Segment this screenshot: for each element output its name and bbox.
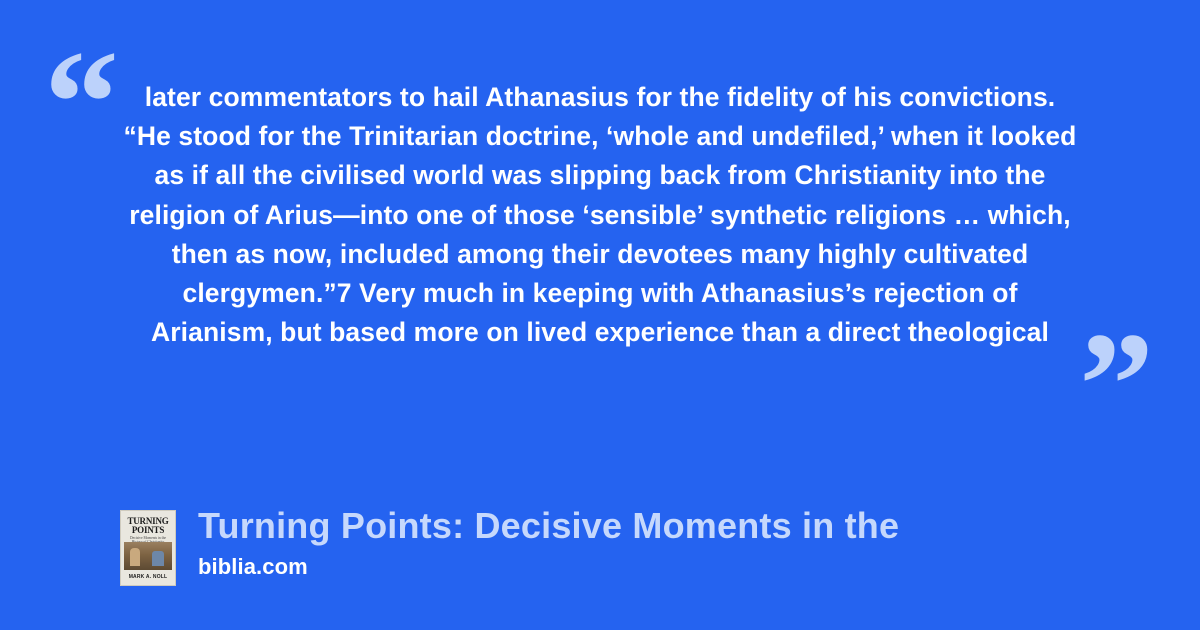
book-cover-thumbnail[interactable]: TURNING POINTS Decisive Moments in the H…: [120, 510, 176, 586]
quote-text: later commentators to hail Athanasius fo…: [120, 78, 1080, 353]
site-name[interactable]: biblia.com: [198, 554, 899, 580]
book-cover-author: MARK A. NOLL: [121, 574, 175, 580]
open-quote-icon: “: [44, 28, 119, 178]
book-cover-artwork: [124, 542, 172, 570]
book-cover-title: TURNING POINTS: [121, 517, 175, 535]
quote-card: “ later commentators to hail Athanasius …: [0, 0, 1200, 630]
close-quote-icon: ”: [1079, 310, 1154, 460]
book-title[interactable]: Turning Points: Decisive Moments in the: [198, 506, 899, 546]
footer-text-block: Turning Points: Decisive Moments in the …: [198, 506, 899, 580]
book-cover-title-line-2: POINTS: [121, 526, 175, 535]
footer: TURNING POINTS Decisive Moments in the H…: [120, 506, 899, 586]
